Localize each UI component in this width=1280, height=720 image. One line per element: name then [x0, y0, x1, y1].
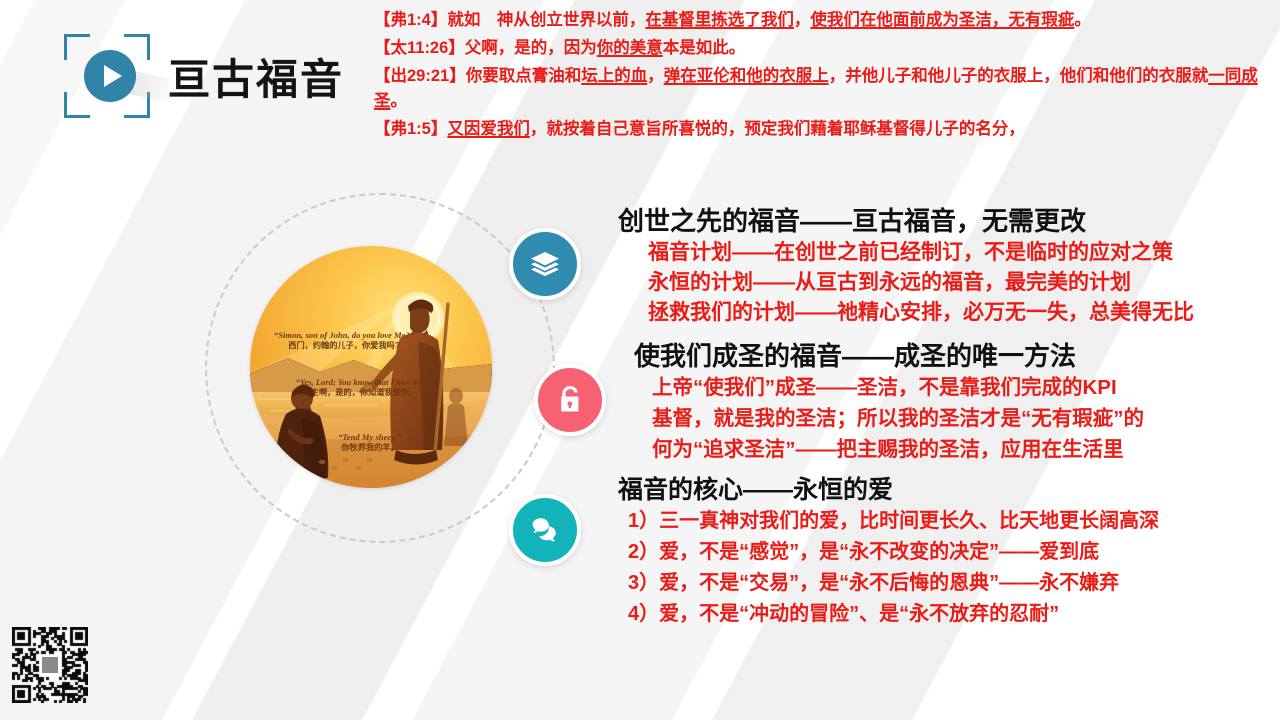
- scripture-line: 【出29:21】你要取点膏油和坛上的血，弹在亚伦和他的衣服上，并他儿子和他儿子的…: [374, 64, 1272, 114]
- section-lines: 上帝“使我们”成圣——圣洁，不是靠我们完成的KPI 基督，就是我的圣洁；所以我的…: [634, 372, 1280, 465]
- brand-logo: 亘古福音: [58, 26, 358, 126]
- section-lines: 1）三一真神对我们的爱，比时间更长久、比天地更长阔高深 2）爱，不是“感觉”，是…: [618, 506, 1280, 630]
- section-gospel-before-creation: 创世之先的福音——亘古福音，无需更改 福音计划——在创世之前已经制订，不是临时的…: [618, 205, 1280, 328]
- scripture-line: 【弗1:5】又因爱我们，就按着自己意旨所喜悦的，预定我们藉着耶稣基督得儿子的名分…: [374, 117, 1272, 142]
- section-line: 福音计划——在创世之前已经制订，不是临时的应对之策: [648, 238, 1280, 268]
- section-line: 上帝“使我们”成圣——圣洁，不是靠我们完成的KPI: [652, 372, 1280, 403]
- section-core-of-gospel: 福音的核心——永恒的爱 1）三一真神对我们的爱，比时间更长久、比天地更长阔高深 …: [618, 475, 1280, 630]
- qr-code[interactable]: [12, 627, 88, 703]
- scripture-line: 【弗1:4】就如 神从创立世界以前，在基督里拣选了我们，使我们在他面前成为圣洁，…: [374, 8, 1272, 33]
- scripture-line: 【太11:26】父啊，是的，因为你的美意本是如此。: [374, 36, 1272, 61]
- section-lines: 福音计划——在创世之前已经制订，不是临时的应对之策 永恒的计划——从亘古到永远的…: [618, 238, 1280, 328]
- content-sections: 创世之先的福音——亘古福音，无需更改 福音计划——在创世之前已经制订，不是临时的…: [600, 205, 1280, 636]
- illustration-group: “Simon, son of John, do you love Me?” 西门…: [205, 193, 565, 555]
- layers-icon[interactable]: [509, 228, 581, 300]
- section-gospel-sanctifies: 使我们成圣的福音——成圣的唯一方法 上帝“使我们”成圣——圣洁，不是靠我们完成的…: [634, 340, 1280, 466]
- qr-center-logo: [40, 655, 60, 675]
- logo-mark: [58, 28, 158, 124]
- section-line: 何为“追求圣洁”——把主赐我的圣洁，应用在生活里: [652, 434, 1280, 465]
- section-line: 1）三一真神对我们的爱，比时间更长久、比天地更长阔高深: [628, 506, 1280, 537]
- unlock-icon[interactable]: [534, 364, 606, 436]
- illustration-image: “Simon, son of John, do you love Me?” 西门…: [250, 246, 492, 488]
- section-heading: 创世之先的福音——亘古福音，无需更改: [618, 205, 1280, 238]
- section-heading: 福音的核心——永恒的爱: [618, 475, 1280, 506]
- section-line: 拯救我们的计划——祂精心安排，必万无一失，总美得无比: [648, 298, 1280, 328]
- section-line: 2）爱，不是“感觉”，是“永不改变的决定”——爱到底: [628, 537, 1280, 568]
- play-button-icon: [84, 50, 136, 102]
- scripture-block: 【弗1:4】就如 神从创立世界以前，在基督里拣选了我们，使我们在他面前成为圣洁，…: [374, 8, 1272, 145]
- section-line: 永恒的计划——从亘古到永远的福音，最完美的计划: [648, 268, 1280, 298]
- section-line: 3）爱，不是“交易”，是“永不后悔的恩典”——永不嫌弃: [628, 568, 1280, 599]
- section-line: 4）爱，不是“冲动的冒险”、是“永不放弃的忍耐”: [628, 599, 1280, 630]
- section-line: 基督，就是我的圣洁；所以我的圣洁才是“无有瑕疵”的: [652, 403, 1280, 434]
- section-heading: 使我们成圣的福音——成圣的唯一方法: [634, 340, 1280, 373]
- chat-bubbles-icon[interactable]: [509, 494, 581, 566]
- page-title: 亘古福音: [168, 46, 344, 107]
